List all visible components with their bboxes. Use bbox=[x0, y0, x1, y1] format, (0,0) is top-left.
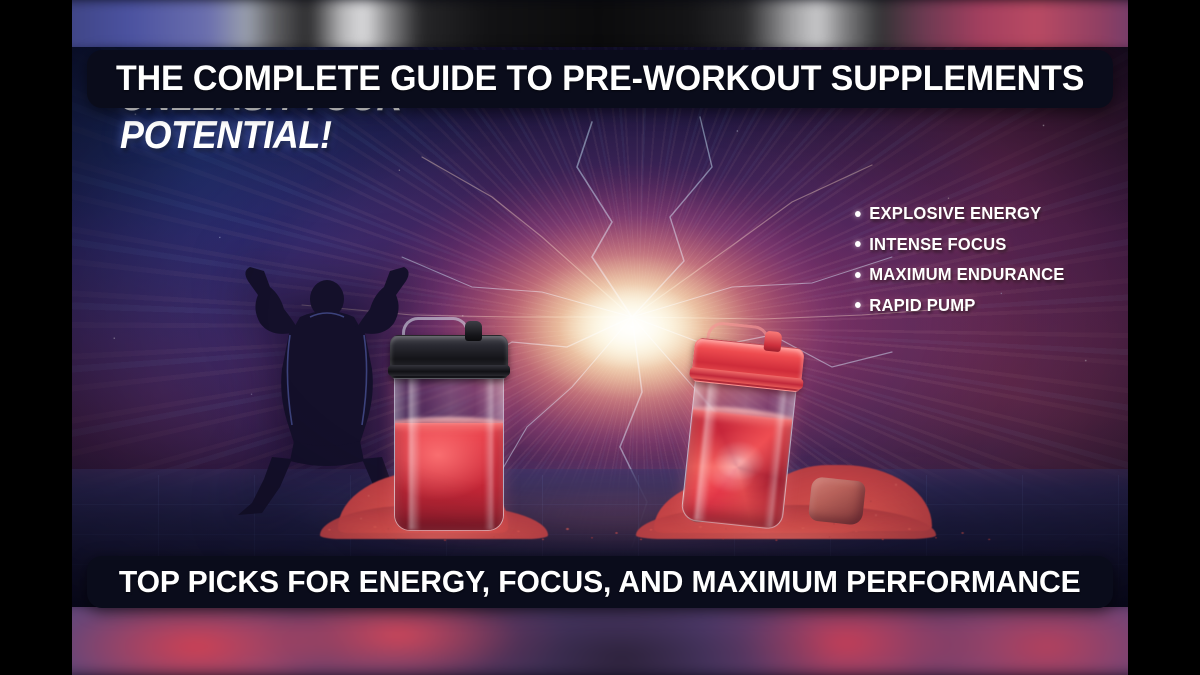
footer-banner: TOP PICKS FOR ENERGY, FOCUS, AND MAXIMUM… bbox=[87, 556, 1113, 608]
benefit-item-explosive-energy: EXPLOSIVE ENERGY bbox=[855, 205, 1065, 223]
letterbox-right-bar bbox=[1128, 0, 1200, 675]
benefit-item-intense-focus: INTENSE FOCUS bbox=[855, 236, 1065, 254]
shaker-gloss-left bbox=[409, 368, 420, 530]
shaker-spout-right bbox=[763, 331, 782, 353]
header-banner: THE COMPLETE GUIDE TO PRE-WORKOUT SUPPLE… bbox=[87, 50, 1113, 108]
poster-content: UNLEASH YOUR POTENTIAL! EXPLOSIVE ENERGY… bbox=[72, 0, 1128, 675]
bullet-dot-icon bbox=[855, 272, 861, 278]
header-banner-title: THE COMPLETE GUIDE TO PRE-WORKOUT SUPPLE… bbox=[116, 59, 1084, 99]
shaker-bottle-right bbox=[676, 315, 807, 530]
benefit-label: EXPLOSIVE ENERGY bbox=[870, 205, 1042, 223]
benefit-item-rapid-pump: RAPID PUMP bbox=[855, 297, 1065, 315]
shaker-bottle-left bbox=[390, 313, 508, 531]
benefit-label: INTENSE FOCUS bbox=[870, 236, 1007, 254]
backdrop-blur-bottom bbox=[72, 601, 1128, 675]
benefit-label: RAPID PUMP bbox=[870, 297, 976, 315]
benefits-list: EXPLOSIVE ENERGY INTENSE FOCUS MAXIMUM E… bbox=[855, 205, 1076, 314]
shaker-spout-left bbox=[465, 321, 482, 341]
shaker-body-right bbox=[680, 369, 797, 530]
benefit-label: MAXIMUM ENDURANCE bbox=[870, 266, 1065, 284]
footer-banner-title: TOP PICKS FOR ENERGY, FOCUS, AND MAXIMUM… bbox=[119, 564, 1081, 600]
bullet-dot-icon bbox=[855, 211, 861, 217]
shaker-gloss-left-right bbox=[485, 368, 493, 530]
backdrop-blur-top bbox=[72, 0, 1128, 54]
bullet-dot-icon bbox=[855, 241, 861, 247]
shaker-body-left bbox=[394, 367, 504, 531]
hero-image: UNLEASH YOUR POTENTIAL! EXPLOSIVE ENERGY… bbox=[72, 47, 1128, 607]
poster-stage: UNLEASH YOUR POTENTIAL! EXPLOSIVE ENERGY… bbox=[0, 0, 1200, 675]
shaker-collar-left bbox=[388, 365, 510, 376]
benefit-item-maximum-endurance: MAXIMUM ENDURANCE bbox=[855, 266, 1065, 284]
bullet-dot-icon bbox=[855, 302, 861, 308]
letterbox-left-bar bbox=[0, 0, 72, 675]
